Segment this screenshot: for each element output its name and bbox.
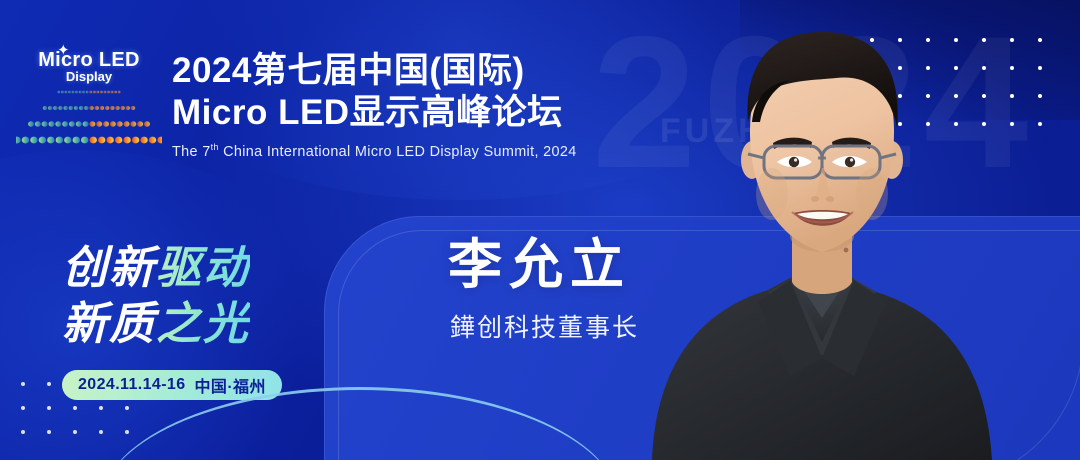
dot xyxy=(99,406,103,410)
logo-led-dot xyxy=(72,91,75,94)
logo-led-dot xyxy=(95,106,99,110)
logo-led-dot xyxy=(89,106,93,110)
dot xyxy=(1038,66,1042,70)
logo-led-dot xyxy=(68,91,71,94)
logo-led-dot xyxy=(106,137,113,144)
slogan-line-1-gradient: 驱动 xyxy=(156,242,250,293)
dot-grid-row xyxy=(830,94,1054,122)
headline-line-1: 2024第七届中国(国际) xyxy=(172,50,602,92)
dot xyxy=(870,38,874,42)
headline-english-prefix: The 7 xyxy=(172,144,211,160)
dot xyxy=(47,406,51,410)
logo-led-dot xyxy=(89,91,92,94)
slogan-line-2: 新质之光 xyxy=(62,296,250,352)
dot xyxy=(1010,94,1014,98)
dot xyxy=(870,66,874,70)
logo-led-dot xyxy=(43,106,47,110)
dot xyxy=(1010,122,1014,126)
logo-primary-text: Micro LED xyxy=(16,50,162,70)
dot xyxy=(954,122,958,126)
logo-led-dot xyxy=(157,137,162,144)
dot xyxy=(21,406,25,410)
logo-led-dot xyxy=(140,137,147,144)
logo-led-dot xyxy=(120,106,124,110)
dot xyxy=(898,38,902,42)
logo-led-dot xyxy=(58,91,61,94)
dot xyxy=(47,382,51,386)
logo-led-dot xyxy=(131,106,135,110)
dot xyxy=(1038,122,1042,126)
logo-led-dot xyxy=(30,137,37,144)
logo-led-dot xyxy=(110,91,113,94)
dot xyxy=(982,122,986,126)
logo-led-dot xyxy=(42,121,48,126)
logo-led-dot xyxy=(82,91,85,94)
logo-led-dot xyxy=(123,137,130,144)
logo-led-dot xyxy=(103,91,106,94)
dot xyxy=(21,382,25,386)
logo-led-dot xyxy=(107,91,110,94)
logo-led-dot xyxy=(69,121,75,126)
logo-led-dot xyxy=(103,121,109,126)
logo-led-dot xyxy=(53,106,57,110)
dot-grid-top-right xyxy=(830,38,1054,150)
logo-led-dot xyxy=(100,106,104,110)
dot xyxy=(73,430,77,434)
logo-led-dot xyxy=(110,106,114,110)
dot-grid-row xyxy=(10,430,140,454)
logo-led-dot xyxy=(100,91,103,94)
logo-secondary-text: Display xyxy=(16,70,162,83)
logo-led-dot xyxy=(96,91,99,94)
logo-led-dot xyxy=(137,121,143,126)
logo-led-dot xyxy=(69,106,73,110)
logo-led-dot xyxy=(81,137,88,144)
dot-grid-row xyxy=(830,38,1054,66)
logo-led-dot xyxy=(118,91,121,94)
slogan-line-2-gradient: 之光 xyxy=(156,298,250,349)
logo-led-dot xyxy=(22,137,29,144)
dot xyxy=(982,94,986,98)
dot xyxy=(125,406,129,410)
dot xyxy=(1010,38,1014,42)
logo-led-dot xyxy=(110,121,116,126)
event-slogan: 创新驱动 新质之光 xyxy=(62,240,250,352)
logo-led-dot xyxy=(48,106,52,110)
logo-led-dot xyxy=(16,137,21,144)
logo-led-dot xyxy=(124,121,130,126)
logo-led-dot xyxy=(96,121,102,126)
badge-city-text: 中国·福州 xyxy=(195,373,266,397)
logo-led-dot xyxy=(149,137,156,144)
dot xyxy=(1038,38,1042,42)
logo-led-dot xyxy=(62,121,68,126)
headline-english-ordinal: th xyxy=(211,142,219,152)
logo-led-dot xyxy=(126,106,130,110)
dot xyxy=(954,38,958,42)
dot xyxy=(898,122,902,126)
logo-led-dot xyxy=(90,137,97,144)
logo-led-dot xyxy=(114,91,117,94)
logo-led-dot xyxy=(63,106,67,110)
dot xyxy=(982,66,986,70)
dot xyxy=(982,38,986,42)
dot xyxy=(73,406,77,410)
dot xyxy=(21,430,25,434)
dot xyxy=(47,430,51,434)
logo-led-dot xyxy=(144,121,150,126)
dot xyxy=(926,122,930,126)
logo-led-dot xyxy=(47,137,54,144)
headline-line-2: Micro LED显示高峰论坛 xyxy=(172,92,602,134)
dot-grid-row xyxy=(830,122,1054,150)
dot xyxy=(842,94,846,98)
logo-led-dot xyxy=(64,137,71,144)
dot xyxy=(926,38,930,42)
logo-led-dot xyxy=(75,91,78,94)
logo-led-dot xyxy=(56,137,63,144)
dot-grid-row xyxy=(10,406,140,430)
dot xyxy=(99,430,103,434)
speaker-name: 李允立 xyxy=(448,238,631,292)
slogan-line-1-white: 创新 xyxy=(62,242,156,293)
logo-led-dot xyxy=(65,91,68,94)
logo-led-dot xyxy=(74,106,78,110)
speaker-title: 鏵创科技董事长 xyxy=(450,316,639,341)
logo-led-dot xyxy=(39,137,46,144)
logo-led-array-icon xyxy=(16,88,162,148)
dot-grid-row xyxy=(830,66,1054,94)
micro-led-display-logo: ✦ Micro LED Display xyxy=(16,42,162,150)
event-banner: 2024 FUZHOU xyxy=(0,0,1080,460)
dot xyxy=(870,94,874,98)
logo-led-dot xyxy=(61,91,64,94)
dot xyxy=(898,94,902,98)
logo-led-dot xyxy=(115,106,119,110)
badge-date-text: 2024.11.14-16 xyxy=(78,376,186,394)
logo-led-dot xyxy=(105,106,109,110)
logo-led-dot xyxy=(84,106,88,110)
logo-led-dot xyxy=(49,121,55,126)
headline-english-subtitle: The 7th China International Micro LED Di… xyxy=(172,138,602,161)
logo-led-dot xyxy=(93,91,96,94)
dot xyxy=(898,66,902,70)
logo-led-dot xyxy=(76,121,82,126)
logo-led-dot xyxy=(86,91,89,94)
dot xyxy=(125,430,129,434)
event-headline: 2024第七届中国(国际) Micro LED显示高峰论坛 The 7th Ch… xyxy=(172,50,602,161)
logo-led-dot xyxy=(58,106,62,110)
dot xyxy=(954,94,958,98)
dot xyxy=(926,66,930,70)
logo-led-dot xyxy=(73,137,80,144)
logo-led-dot xyxy=(98,137,105,144)
logo-led-dot xyxy=(115,137,122,144)
dot xyxy=(926,94,930,98)
slogan-line-2-white: 新质 xyxy=(62,298,156,349)
dot xyxy=(954,66,958,70)
slogan-line-1: 创新驱动 xyxy=(62,240,250,296)
date-location-badge: 2024.11.14-16 中国·福州 xyxy=(62,370,282,400)
logo-led-dot xyxy=(89,121,95,126)
logo-led-dot xyxy=(28,121,34,126)
logo-led-dot xyxy=(79,91,82,94)
panel-arc-decoration xyxy=(783,225,1080,460)
logo-led-dot xyxy=(117,121,123,126)
logo-led-dot xyxy=(132,137,139,144)
dot xyxy=(842,122,846,126)
logo-led-dot xyxy=(79,106,83,110)
logo-led-dot xyxy=(83,121,89,126)
logo-led-dot xyxy=(35,121,41,126)
headline-english-rest: China International Micro LED Display Su… xyxy=(219,144,577,160)
dot xyxy=(870,122,874,126)
logo-led-dot xyxy=(130,121,136,126)
dot xyxy=(1010,66,1014,70)
dot xyxy=(842,38,846,42)
dot xyxy=(842,66,846,70)
dot xyxy=(1038,94,1042,98)
watermark-city-text: FUZHOU xyxy=(660,112,826,151)
logo-led-dot xyxy=(55,121,61,126)
